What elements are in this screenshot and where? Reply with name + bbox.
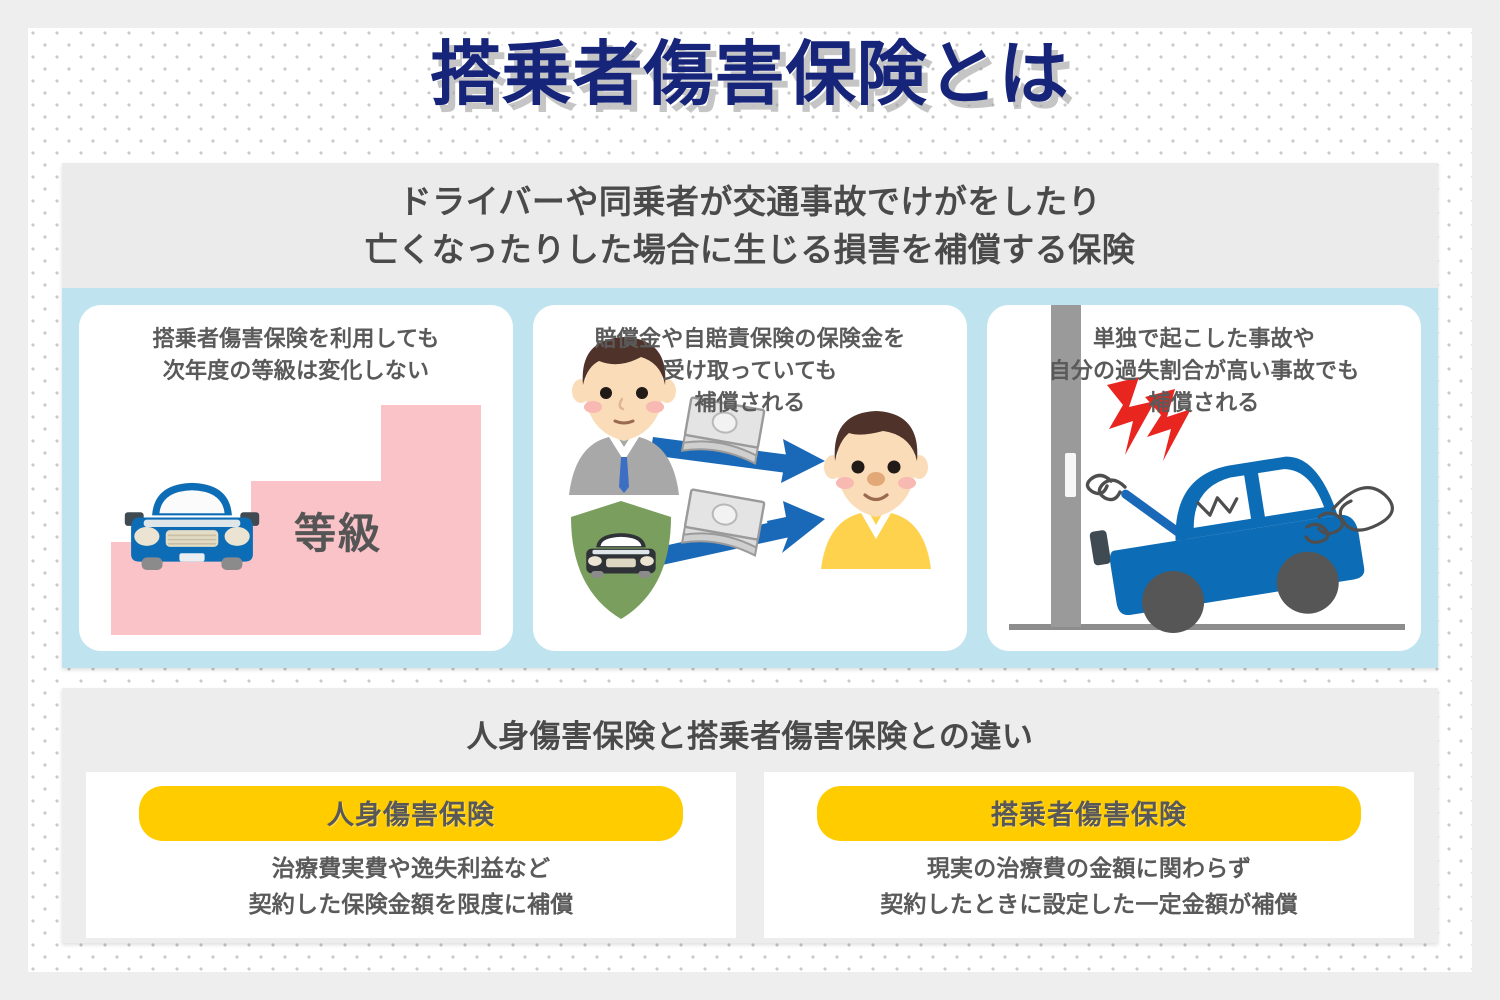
feature-card-paid-even-with-other-compensation: 賠償金や自賠責保険の保険金を 受け取っていても 補償される [533, 305, 967, 651]
comparison-card-row: 人身傷害保険 治療費実費や逸失利益など 契約した保険金額を限度に補償 搭乗者傷害… [62, 756, 1438, 938]
feature-card-2-text: 賠償金や自賠責保険の保険金を 受け取っていても 補償される [533, 305, 967, 419]
feature-card-row: 搭乗者傷害保険を利用しても 次年度の等級は変化しない [62, 288, 1438, 668]
insurance-shield-car-icon [571, 501, 671, 619]
panel-headline-line-2: 亡くなったりした場合に生じる損害を補償する保険 [365, 226, 1136, 274]
feature-card-no-grade-change: 搭乗者傷害保険を利用しても 次年度の等級は変化しない [79, 305, 513, 651]
comparison-desc-jinshin-line-1: 治療費実費や逸失利益など [102, 851, 720, 887]
comparison-desc-tojosha-line-1: 現実の治療費の金額に関わらず [780, 851, 1398, 887]
recipient-avatar-icon [821, 411, 931, 569]
panel-headline: ドライバーや同乗者が交通事故でけがをしたり 亡くなったりした場合に生じる損害を補… [365, 178, 1136, 274]
panel-header: ドライバーや同乗者が交通事故でけがをしたり 亡くなったりした場合に生じる損害を補… [62, 163, 1438, 288]
page-title-wrap: 搭乗者傷害保険とは [0, 38, 1500, 112]
feature-card-3-line-2: 自分の過失割合が高い事故でも [999, 355, 1409, 387]
feature-card-1-line-2: 次年度の等級は変化しない [91, 355, 501, 387]
infographic-page: 搭乗者傷害保険とは ドライバーや同乗者が交通事故でけがをしたり 亡くなったりした… [0, 0, 1500, 1000]
feature-card-2-line-1: 賠償金や自賠責保険の保険金を [545, 323, 955, 355]
smoke-swirl-left-icon [1087, 475, 1125, 499]
comparison-heading: 人身傷害保険と搭乗者傷害保険との違い [62, 688, 1438, 756]
panel-headline-line-1: ドライバーや同乗者が交通事故でけがをしたり [365, 178, 1136, 226]
feature-card-single-car-or-high-fault: 単独で起こした事故や 自分の過失割合が高い事故でも 補償される [987, 305, 1421, 651]
feature-card-2-line-3: 補償される [545, 387, 955, 419]
blue-car-front-icon [125, 483, 259, 570]
blue-crashed-car-icon [1082, 447, 1370, 646]
grade-label: 等級 [294, 500, 382, 561]
feature-card-1-line-1: 搭乗者傷害保険を利用しても [91, 323, 501, 355]
comparison-card-tojosha: 搭乗者傷害保険 現実の治療費の金額に関わらず 契約したときに設定した一定金額が補… [764, 772, 1414, 938]
comparison-desc-jinshin-line-2: 契約した保険金額を限度に補償 [102, 887, 720, 923]
feature-card-1-text: 搭乗者傷害保険を利用しても 次年度の等級は変化しない [79, 305, 513, 387]
comparison-desc-tojosha-line-2: 契約したときに設定した一定金額が補償 [780, 887, 1398, 923]
comparison-card-jinshin: 人身傷害保険 治療費実費や逸失利益など 契約した保険金額を限度に補償 [86, 772, 736, 938]
comparison-badge-tojosha: 搭乗者傷害保険 [817, 786, 1361, 841]
feature-card-2-line-2: 受け取っていても [545, 355, 955, 387]
feature-card-3-text: 単独で起こした事故や 自分の過失割合が高い事故でも 補償される [987, 305, 1421, 419]
page-title: 搭乗者傷害保険とは [431, 38, 1070, 112]
comparison-panel: 人身傷害保険と搭乗者傷害保険との違い 人身傷害保険 治療費実費や逸失利益など 契… [62, 688, 1438, 943]
comparison-desc-jinshin: 治療費実費や逸失利益など 契約した保険金額を限度に補償 [102, 851, 720, 922]
comparison-badge-jinshin: 人身傷害保険 [139, 786, 683, 841]
feature-card-3-line-3: 補償される [999, 387, 1409, 419]
comparison-desc-tojosha: 現実の治療費の金額に関わらず 契約したときに設定した一定金額が補償 [780, 851, 1398, 922]
feature-card-3-line-1: 単独で起こした事故や [999, 323, 1409, 355]
main-panel: ドライバーや同乗者が交通事故でけがをしたり 亡くなったりした場合に生じる損害を補… [62, 163, 1438, 668]
